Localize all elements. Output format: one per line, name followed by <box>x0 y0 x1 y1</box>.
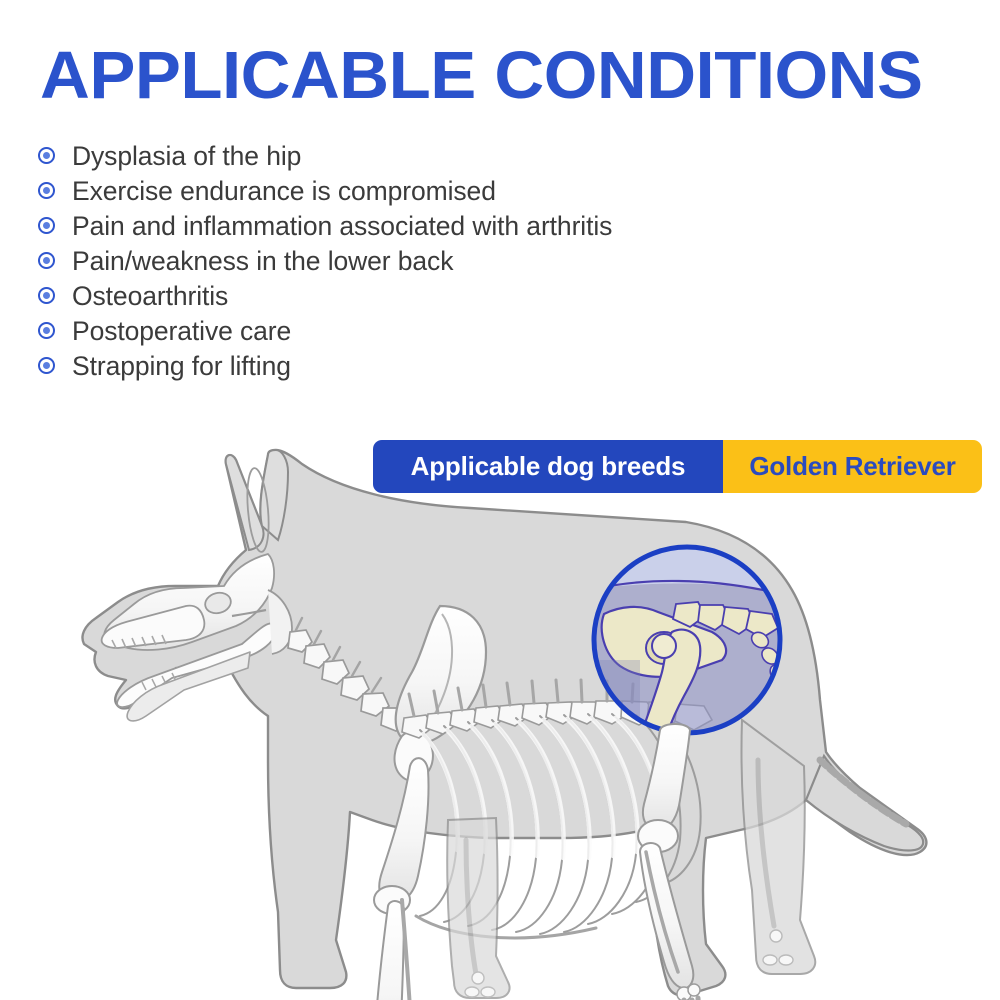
list-item: Osteoarthritis <box>38 278 938 313</box>
banner-label-cell: Applicable dog breeds <box>373 440 723 493</box>
list-item-label: Dysplasia of the hip <box>72 141 301 171</box>
target-dot-icon <box>38 217 55 234</box>
banner-value-cell: Golden Retriever <box>723 440 982 493</box>
banner-value-text: Golden Retriever <box>749 451 955 482</box>
target-dot-icon <box>38 182 55 199</box>
list-item: Dysplasia of the hip <box>38 138 938 173</box>
list-item: Pain/weakness in the lower back <box>38 243 938 278</box>
page-title: APPLICABLE CONDITIONS <box>40 40 1000 112</box>
list-item-label: Osteoarthritis <box>72 281 228 311</box>
target-dot-icon <box>38 147 55 164</box>
list-item-label: Postoperative care <box>72 316 291 346</box>
applicable-dog-breeds-banner: Applicable dog breeds Golden Retriever <box>373 440 982 493</box>
list-item: Exercise endurance is compromised <box>38 173 938 208</box>
target-dot-icon <box>38 357 55 374</box>
banner-label-text: Applicable dog breeds <box>411 451 686 482</box>
target-dot-icon <box>38 252 55 269</box>
far-front-leg <box>447 818 509 998</box>
target-dot-icon <box>38 287 55 304</box>
list-item: Strapping for lifting <box>38 348 938 383</box>
list-item-label: Strapping for lifting <box>72 351 291 381</box>
list-item-label: Pain and inflammation associated with ar… <box>72 211 612 241</box>
list-item-label: Exercise endurance is compromised <box>72 176 496 206</box>
applicable-conditions-list: Dysplasia of the hip Exercise endurance … <box>38 138 938 383</box>
target-dot-icon <box>38 322 55 339</box>
poster-root: APPLICABLE CONDITIONS Dysplasia of the h… <box>0 0 1000 1000</box>
list-item: Postoperative care <box>38 313 938 348</box>
list-item: Pain and inflammation associated with ar… <box>38 208 938 243</box>
list-item-label: Pain/weakness in the lower back <box>72 246 453 276</box>
